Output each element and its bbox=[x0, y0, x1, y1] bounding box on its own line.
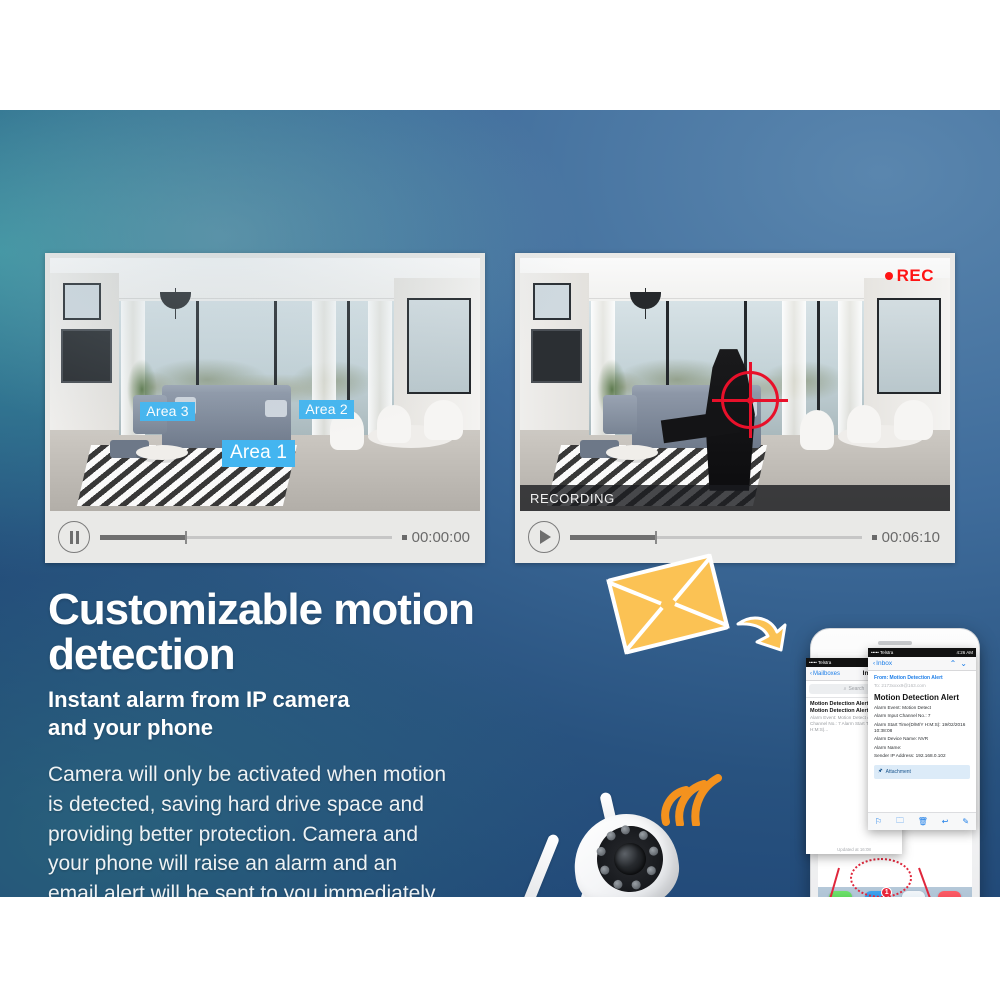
play-icon bbox=[540, 530, 551, 544]
area-tag-3[interactable]: Area 3 bbox=[140, 402, 194, 421]
living-room-scene bbox=[50, 258, 480, 511]
subheading: Instant alarm from IP camera and your ph… bbox=[48, 686, 478, 742]
inbox-updated-label: Updated at 16:08 bbox=[806, 847, 902, 852]
reply-icon[interactable]: ↩ bbox=[942, 817, 949, 826]
envelope-icon bbox=[606, 553, 730, 655]
message-meta: From: Motion Detection Alert To: 2173xxx… bbox=[868, 671, 976, 690]
progress-slider-recording[interactable] bbox=[570, 536, 862, 539]
subheading-line-2: and your phone bbox=[48, 714, 478, 742]
dock-app-music[interactable]: ♫ Music bbox=[938, 891, 961, 898]
play-button[interactable] bbox=[528, 521, 560, 553]
record-dot-icon bbox=[885, 272, 893, 280]
pause-button[interactable] bbox=[58, 521, 90, 553]
attachment-chip[interactable]: 🖈 Attachment bbox=[874, 765, 970, 779]
timecode-live: 00:00:00 bbox=[402, 529, 480, 546]
folder-icon[interactable]: 🗀 bbox=[896, 815, 904, 829]
message-field: Alarm Device Name: NVR bbox=[868, 735, 976, 743]
safari-icon[interactable]: ➤ bbox=[902, 891, 925, 898]
mail-toolbar[interactable]: ⚐ 🗀 🗑 ↩ ✎ bbox=[868, 812, 976, 830]
message-field: Alarm Input Channel No.: 7 bbox=[868, 712, 976, 720]
video-screen-live: Area 3 Area 2 Area 1 bbox=[50, 258, 480, 511]
ip-camera-illustration bbox=[520, 770, 730, 897]
message-pager-icons[interactable]: ⌃⌄ bbox=[950, 659, 971, 668]
stop-dot-icon bbox=[402, 535, 407, 540]
video-player-live[interactable]: Area 3 Area 2 Area 1 00:00:00 bbox=[45, 253, 485, 563]
music-icon[interactable]: ♫ bbox=[938, 891, 961, 898]
earpiece-speaker bbox=[878, 641, 912, 645]
stop-dot-icon bbox=[872, 535, 877, 540]
dock-highlight-oval bbox=[850, 858, 912, 897]
chevron-left-icon: ‹ bbox=[873, 660, 875, 667]
message-field: Sender IP Address: 192.168.0.102 bbox=[868, 752, 976, 760]
timecode-recording: 00:06:10 bbox=[872, 529, 950, 546]
message-field: Alarm Name: bbox=[868, 744, 976, 752]
chevron-left-icon: ‹ bbox=[810, 671, 812, 677]
message-to: To: 2173xxxx9@163.com bbox=[874, 683, 970, 688]
area-tag-1[interactable]: Area 1 bbox=[222, 440, 295, 467]
message-from: From: Motion Detection Alert bbox=[874, 675, 970, 681]
area-tag-2[interactable]: Area 2 bbox=[299, 400, 353, 419]
detail-navbar[interactable]: ‹ Inbox ⌃⌄ bbox=[868, 657, 976, 671]
rec-indicator: REC bbox=[885, 266, 934, 286]
body-copy: Camera will only be activated when motio… bbox=[48, 760, 448, 897]
message-subject: Motion Detection Alert bbox=[868, 690, 976, 704]
progress-slider-live[interactable] bbox=[100, 536, 392, 539]
message-field: Alarm Event: Motion Detect bbox=[868, 704, 976, 712]
back-button-inbox[interactable]: ‹ Inbox bbox=[873, 660, 892, 667]
flag-icon[interactable]: ⚐ bbox=[875, 817, 882, 826]
back-button-mailboxes[interactable]: ‹ Mailboxes bbox=[810, 671, 840, 677]
curved-arrow-icon bbox=[735, 608, 787, 652]
promo-slide: Area 3 Area 2 Area 1 00:00:00 bbox=[0, 0, 1000, 1000]
message-field: Alarm Start Time(D/M/Y H:M:S): 19/02/201… bbox=[868, 721, 976, 736]
pause-icon bbox=[70, 531, 79, 544]
promo-panel: Area 3 Area 2 Area 1 00:00:00 bbox=[0, 110, 1000, 897]
subheading-line-1: Instant alarm from IP camera bbox=[48, 686, 478, 714]
target-reticle-icon bbox=[721, 371, 779, 429]
mail-detail-card[interactable]: ••••• Telstra 4:26 AM ‹ Inbox ⌃⌄ From: M… bbox=[868, 648, 976, 830]
dock-app-safari[interactable]: ➤ Safari bbox=[902, 891, 925, 898]
search-icon: ⌕ bbox=[844, 686, 847, 692]
player-controls-live[interactable]: 00:00:00 bbox=[50, 516, 480, 558]
trash-icon[interactable]: 🗑 bbox=[918, 817, 928, 826]
page-title: Customizable motion detection bbox=[48, 588, 518, 678]
wifi-waves-icon bbox=[656, 770, 722, 826]
compose-icon[interactable]: ✎ bbox=[962, 817, 969, 826]
phone-status-bar-detail: ••••• Telstra 4:26 AM bbox=[868, 648, 976, 657]
recording-status-strip: RECORDING bbox=[520, 485, 950, 511]
player-controls-recording[interactable]: 00:06:10 bbox=[520, 516, 950, 558]
paperclip-icon: 🖈 bbox=[878, 768, 883, 776]
